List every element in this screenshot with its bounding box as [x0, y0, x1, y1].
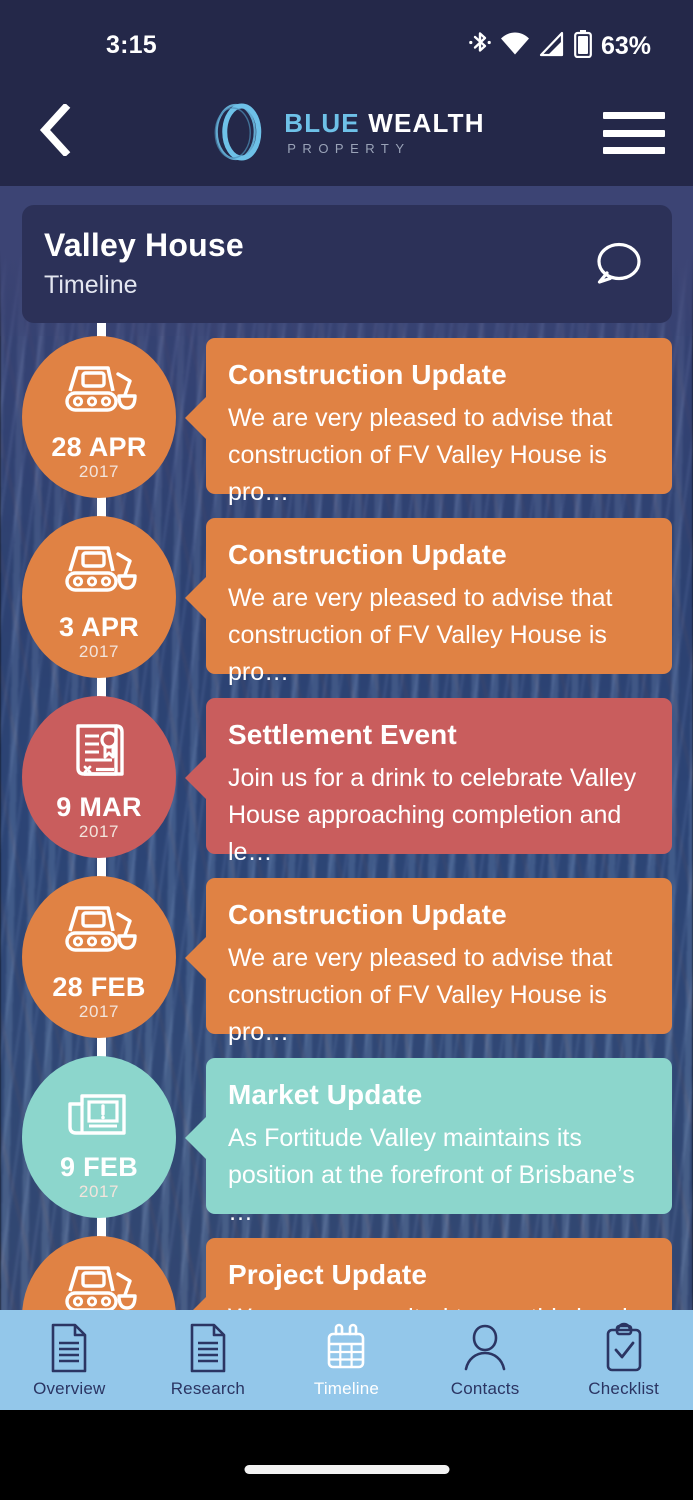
list-item: 9 FEB 2017 Market Update As Fortitude Va…: [0, 1056, 693, 1236]
timeline-card[interactable]: Construction Update We are very pleased …: [206, 338, 672, 494]
timeline-card[interactable]: Construction Update We are very pleased …: [206, 878, 672, 1034]
timeline-card-body: We are very pleased to advise that const…: [228, 580, 662, 690]
status-bar: 3:15 63%: [0, 0, 693, 78]
page-title: Valley House: [44, 227, 244, 264]
tab-label: Timeline: [314, 1379, 379, 1399]
document-icon: [45, 1322, 93, 1374]
tab-label: Research: [171, 1379, 245, 1399]
timeline-date-badge[interactable]: 28 FEB 2017: [22, 876, 176, 1038]
home-indicator-area: [0, 1410, 693, 1500]
timeline-date: 9 FEB: [22, 1152, 176, 1183]
tab-timeline[interactable]: Timeline: [277, 1322, 416, 1399]
list-item: 28 FEB 2017 Construction Update We are v…: [0, 876, 693, 1056]
timeline-card-body: We are very pleased to advise that const…: [228, 400, 662, 510]
certificate-icon: [56, 718, 142, 788]
tab-contacts[interactable]: Contacts: [416, 1322, 555, 1399]
list-item: 9 MAR 2017 Settlement Event Join us for …: [0, 696, 693, 876]
timeline-scroll-area[interactable]: Valley House Timeline: [0, 186, 693, 1372]
phone-screen: 3:15 63%: [0, 0, 693, 1500]
timeline-card-body: Join us for a drink to celebrate Valley …: [228, 760, 662, 870]
timeline-card-title: Project Update: [228, 1259, 656, 1291]
hamburger-menu-icon[interactable]: [603, 112, 665, 154]
brand-word-blue: BLUE: [284, 108, 360, 138]
excavator-icon: [56, 898, 142, 968]
wifi-icon: [500, 31, 530, 62]
timeline-card-title: Market Update: [228, 1079, 656, 1111]
timeline-card-title: Construction Update: [228, 359, 656, 391]
timeline-date-badge[interactable]: 28 APR 2017: [22, 336, 176, 498]
timeline-date-badge[interactable]: 3 APR 2017: [22, 516, 176, 678]
timeline-card-title: Construction Update: [228, 899, 656, 931]
brand-wordmark: BLUE WEALTH PROPERTY: [284, 110, 484, 155]
brand-word-wealth: WEALTH: [368, 108, 484, 138]
list-item: 3 APR 2017 Construction Update We are ve…: [0, 516, 693, 696]
tab-label: Checklist: [588, 1379, 659, 1399]
back-chevron-icon: [38, 104, 72, 161]
timeline-date-badge[interactable]: 9 FEB 2017: [22, 1056, 176, 1218]
timeline-card-body: As Fortitude Valley maintains its positi…: [228, 1120, 662, 1230]
blue-wealth-ring-icon: [208, 101, 270, 163]
timeline-card-title: Construction Update: [228, 539, 656, 571]
list-item: 28 APR 2017 Construction Update We are v…: [0, 336, 693, 516]
tab-label: Contacts: [451, 1379, 520, 1399]
battery-percent-label: 63%: [601, 32, 651, 61]
tab-checklist[interactable]: Checklist: [554, 1322, 693, 1399]
calendar-icon: [322, 1322, 370, 1374]
newspaper-icon: [56, 1078, 142, 1148]
timeline-date: 3 APR: [22, 612, 176, 643]
tab-overview[interactable]: Overview: [0, 1322, 139, 1399]
timeline-year: 2017: [22, 642, 176, 662]
timeline-list: 28 APR 2017 Construction Update We are v…: [0, 336, 693, 1372]
document-icon: [184, 1322, 232, 1374]
clipboard-check-icon: [600, 1322, 648, 1374]
timeline-date: 9 MAR: [22, 792, 176, 823]
timeline-year: 2017: [22, 1182, 176, 1202]
app-header: BLUE WEALTH PROPERTY: [0, 78, 693, 186]
page-subtitle: Timeline: [44, 271, 138, 300]
timeline-card-title: Settlement Event: [228, 719, 656, 751]
timeline-year: 2017: [22, 822, 176, 842]
cellular-signal-icon: [539, 31, 565, 62]
timeline-card[interactable]: Settlement Event Join us for a drink to …: [206, 698, 672, 854]
status-bar-clock: 3:15: [106, 31, 157, 60]
back-button[interactable]: [26, 102, 84, 162]
bottom-tab-bar: Overview Research: [0, 1310, 693, 1410]
chat-button[interactable]: [590, 237, 646, 293]
timeline-date: 28 FEB: [22, 972, 176, 1003]
brand-tagline: PROPERTY: [284, 142, 484, 155]
tab-research[interactable]: Research: [139, 1322, 278, 1399]
timeline-year: 2017: [22, 1002, 176, 1022]
timeline-year: 2017: [22, 462, 176, 482]
brand-logo: BLUE WEALTH PROPERTY: [208, 101, 484, 163]
tab-label: Overview: [33, 1379, 105, 1399]
timeline-date: 28 APR: [22, 432, 176, 463]
excavator-icon: [56, 358, 142, 428]
bluetooth-icon: [469, 31, 491, 63]
person-icon: [461, 1322, 509, 1374]
timeline-card[interactable]: Construction Update We are very pleased …: [206, 518, 672, 674]
timeline-card[interactable]: Market Update As Fortitude Valley mainta…: [206, 1058, 672, 1214]
timeline-card-body: We are very pleased to advise that const…: [228, 940, 662, 1050]
timeline-date-badge[interactable]: 9 MAR 2017: [22, 696, 176, 858]
status-bar-indicators: 63%: [469, 30, 651, 63]
project-title-card: Valley House Timeline: [22, 205, 672, 323]
excavator-icon: [56, 538, 142, 608]
home-indicator[interactable]: [244, 1465, 449, 1474]
speech-bubble-icon: [590, 280, 646, 297]
battery-icon: [574, 30, 592, 63]
